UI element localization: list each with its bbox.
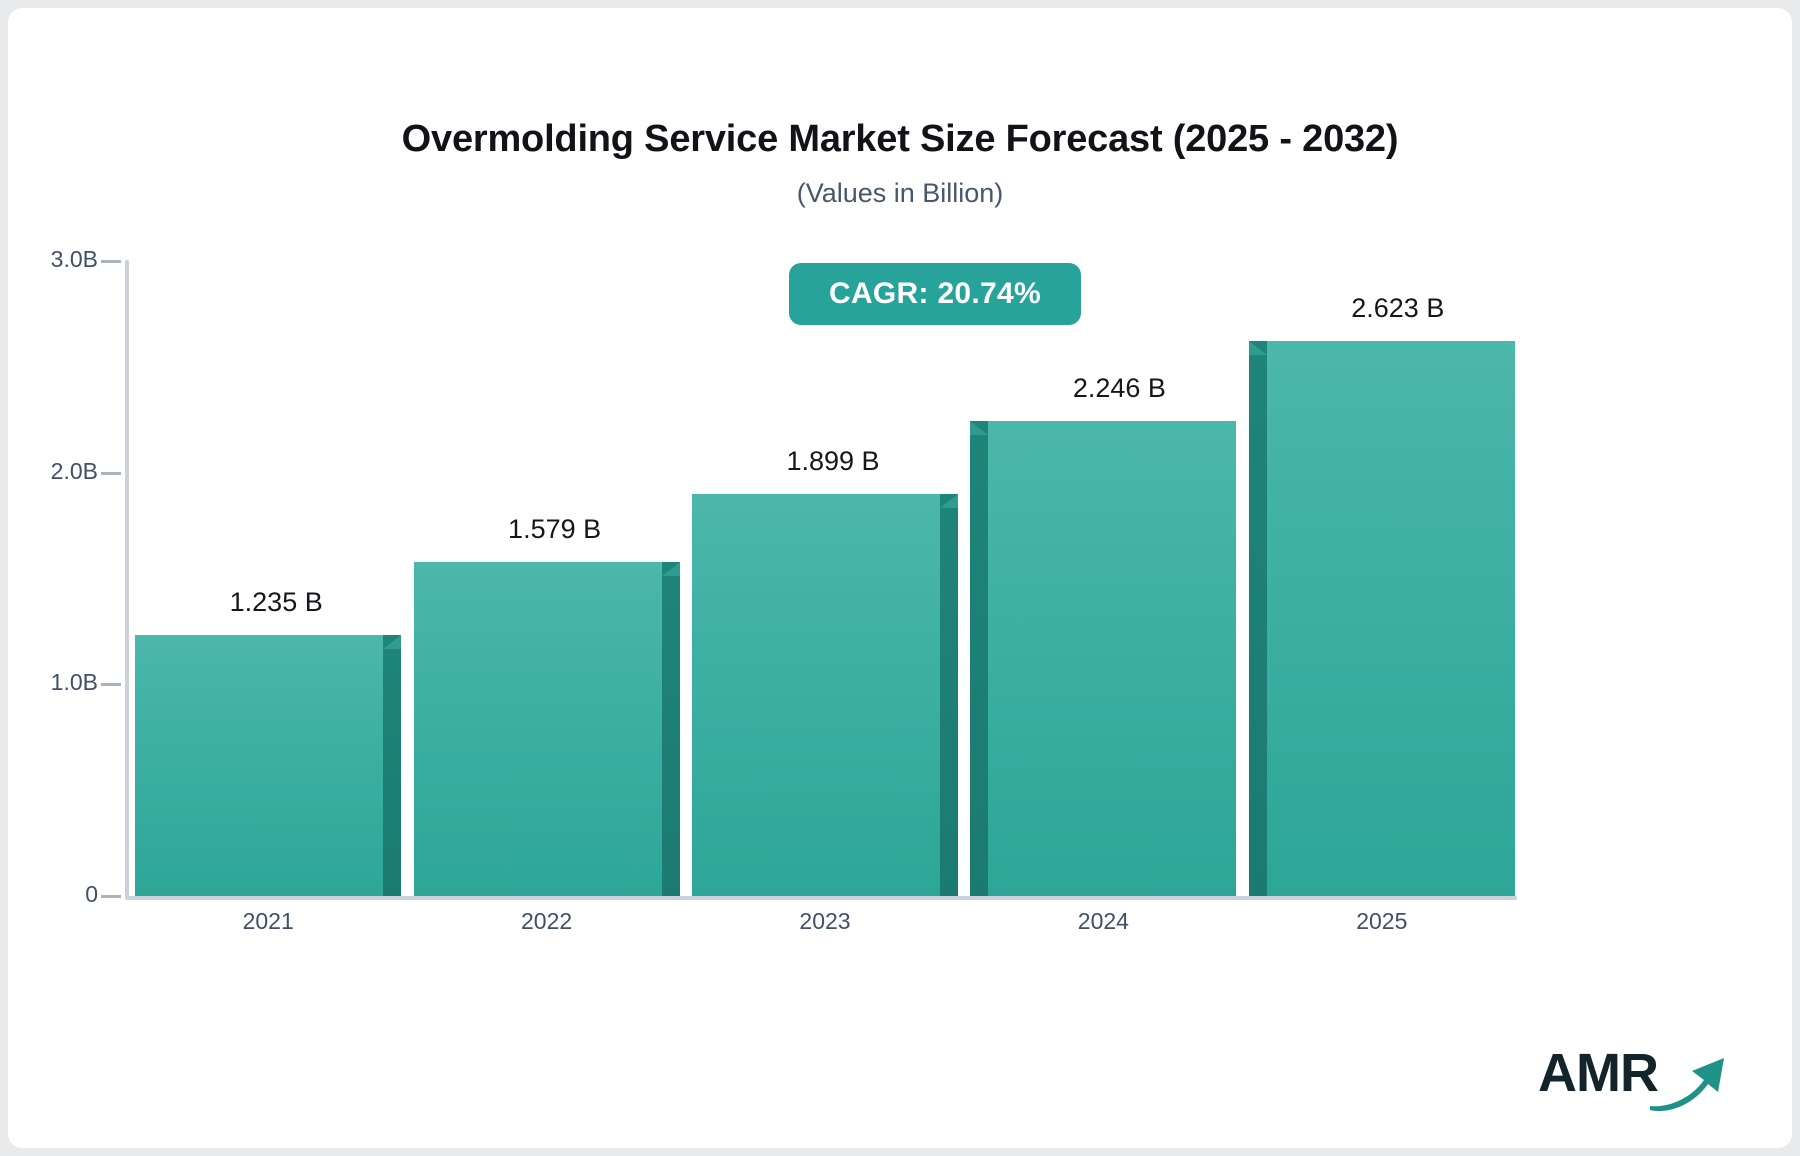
x-axis-tick-label: 2022 — [447, 908, 647, 935]
bar-value-label: 1.235 B — [146, 587, 406, 618]
bar — [135, 635, 383, 896]
bar — [692, 494, 940, 896]
y-axis-tick-label: 1.0B — [18, 669, 98, 696]
y-axis-tick-label: 2.0B — [18, 458, 98, 485]
y-axis-tick-mark — [101, 260, 121, 263]
bar-value-label: 1.579 B — [425, 514, 685, 545]
bar-front-face — [988, 421, 1236, 896]
bar-front-face — [692, 494, 940, 896]
bar-front-face — [414, 562, 662, 896]
x-axis-tick-label: 2024 — [1003, 908, 1203, 935]
bar-side-face — [970, 421, 988, 896]
bar-side-face — [383, 635, 401, 896]
amr-logo-text: AMR — [1538, 1042, 1658, 1104]
plot-area: 01.0B2.0B3.0B 1.235 B1.579 B1.899 B2.246… — [8, 8, 1792, 1148]
bar-value-label: 1.899 B — [703, 446, 963, 477]
bar — [1267, 341, 1515, 896]
y-axis-tick-label: 3.0B — [18, 246, 98, 273]
bar — [414, 562, 662, 896]
growth-arrow-icon — [1648, 1044, 1728, 1114]
y-axis-tick-mark — [101, 895, 121, 898]
bar-value-label: 2.623 B — [1268, 293, 1528, 324]
bar-top-bevel — [970, 421, 988, 435]
chart-card: Overmolding Service Market Size Forecast… — [8, 8, 1792, 1148]
x-axis-tick-label: 2021 — [168, 908, 368, 935]
bar-value-label: 2.246 B — [989, 373, 1249, 404]
bar-front-face — [135, 635, 383, 896]
bar-top-bevel — [940, 494, 958, 508]
bar — [988, 421, 1236, 896]
y-axis-tick-mark — [101, 683, 121, 686]
x-axis-tick-label: 2023 — [725, 908, 925, 935]
x-axis-tick-label: 2025 — [1282, 908, 1482, 935]
bar-top-bevel — [383, 635, 401, 649]
y-axis-tick-mark — [101, 472, 121, 475]
amr-logo: AMR — [1538, 1036, 1728, 1116]
x-axis-line — [125, 896, 1517, 900]
bar-front-face — [1267, 341, 1515, 896]
bar-side-face — [1249, 341, 1267, 896]
bar-side-face — [662, 562, 680, 896]
y-axis-tick-label: 0 — [18, 881, 98, 908]
bar-side-face — [940, 494, 958, 896]
bar-top-bevel — [662, 562, 680, 576]
y-axis-line — [125, 260, 129, 900]
bar-top-bevel — [1249, 341, 1267, 355]
